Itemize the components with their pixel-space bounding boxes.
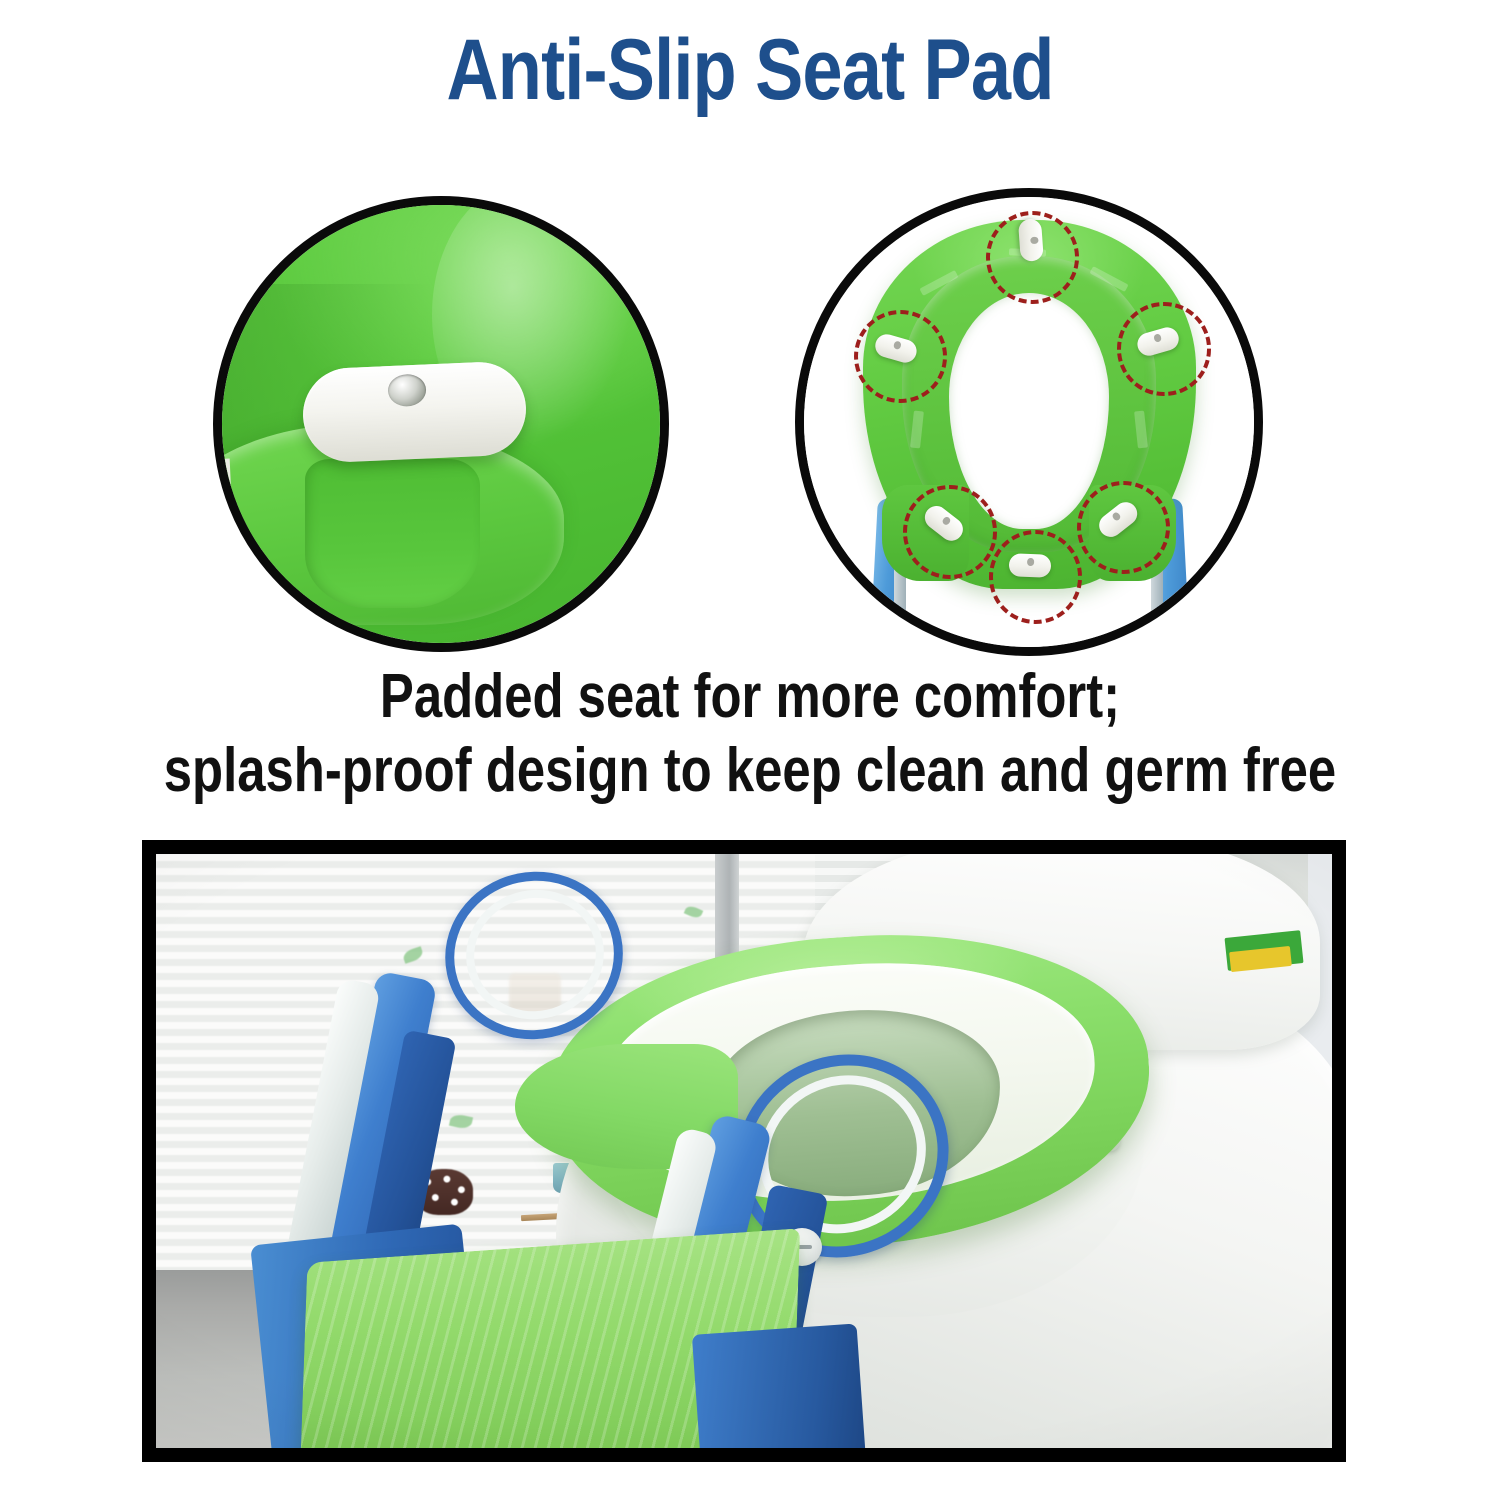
seat-underside-pads-image xyxy=(804,197,1254,647)
pad-screw-icon xyxy=(387,373,426,407)
pad-highlight-ring xyxy=(903,485,997,579)
pad-highlight-ring xyxy=(854,310,948,404)
seat-underside-pads-inset xyxy=(795,188,1263,656)
anti-slip-pad xyxy=(301,360,528,464)
pad-highlight-ring xyxy=(1077,481,1171,575)
pad-highlight-ring xyxy=(986,211,1080,305)
product-in-use-scene: Learinn xyxy=(156,854,1332,1448)
page-title: Anti-Slip Seat Pad xyxy=(120,22,1380,118)
ladder-frame-right xyxy=(692,1324,867,1448)
pad-highlight-ring xyxy=(989,530,1083,624)
caption-line-1: Padded seat for more comfort; xyxy=(135,660,1365,734)
caption-line-2: splash-proof design to keep clean and ge… xyxy=(135,734,1365,808)
pad-highlight-ring xyxy=(1117,302,1211,396)
product-in-use-photo: Learinn xyxy=(142,840,1346,1462)
feature-caption: Padded seat for more comfort; splash-pro… xyxy=(135,660,1365,808)
anti-slip-pad-closeup-image xyxy=(222,205,660,643)
seat-notch xyxy=(305,459,480,608)
feature-insets-row xyxy=(0,178,1500,648)
anti-slip-pad-closeup-inset xyxy=(213,196,669,652)
